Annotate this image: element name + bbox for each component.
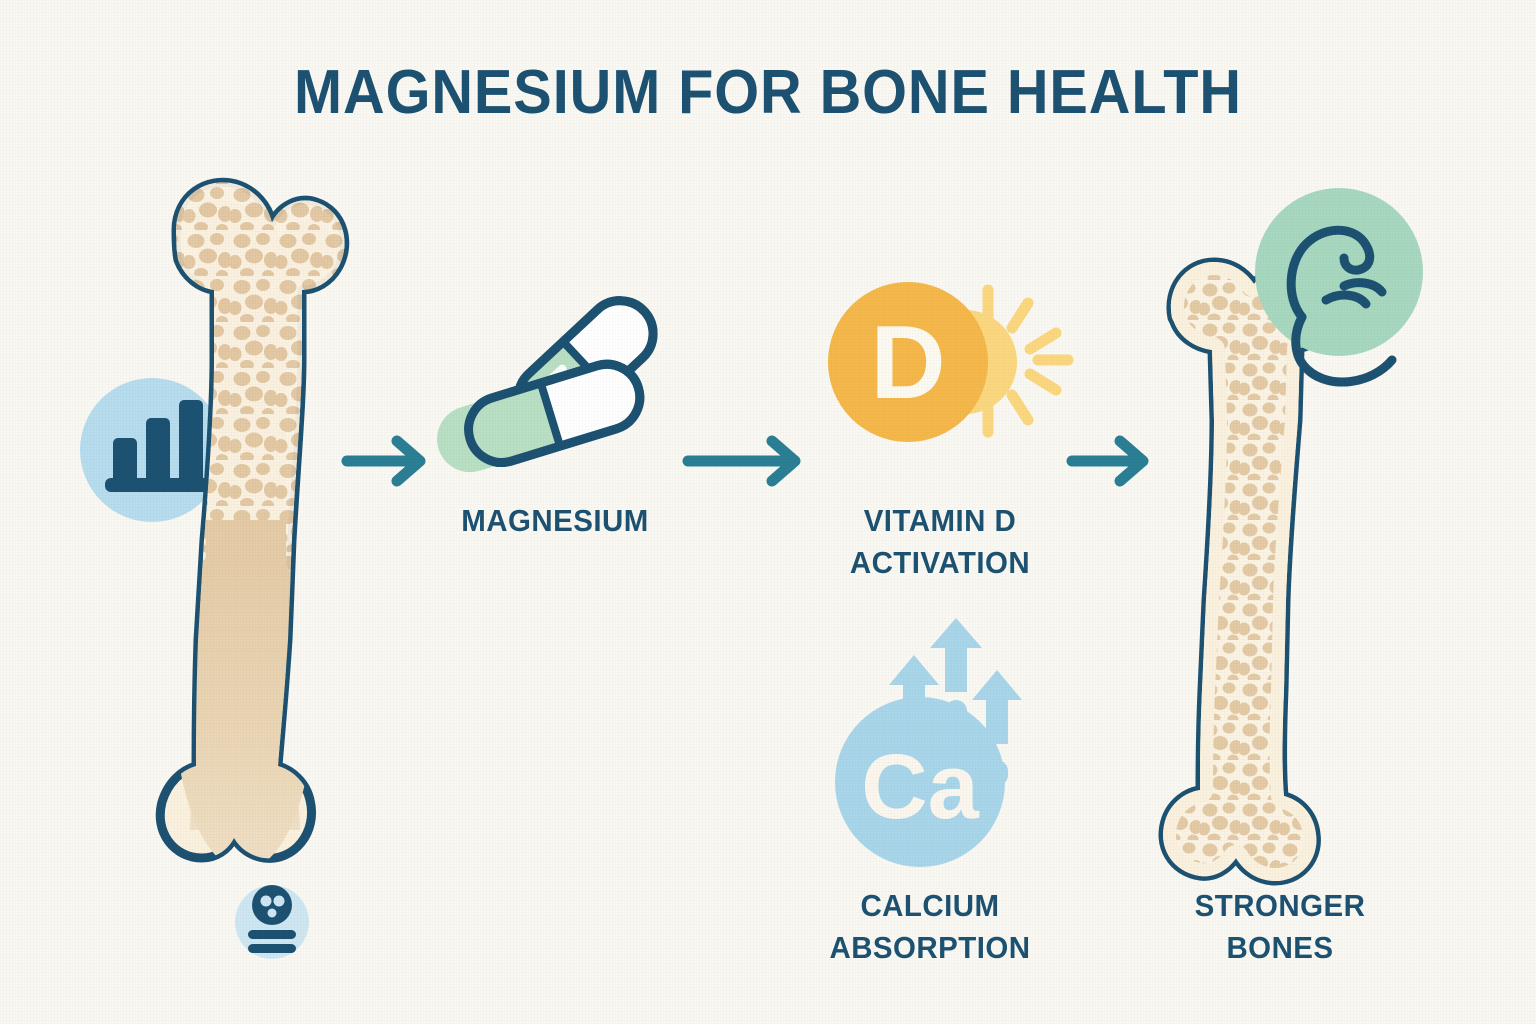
infographic-canvas: MAGNESIUM FOR BONE HEALTH (0, 0, 1536, 1024)
arrow-bone-to-magnesium (347, 441, 420, 481)
vitamin-d-sun-icon: D (828, 282, 1068, 442)
bone-density-badge-icon (235, 885, 309, 959)
vitamin-d-letter: D (870, 305, 945, 421)
calcium-molecule-icon: Ca (835, 618, 1022, 867)
arrow-magnesium-to-vitamin-d (688, 441, 795, 481)
low-density-bone-graphic (80, 176, 360, 959)
bone-left-shape (160, 176, 360, 870)
stage-label-stronger-bones: STRONGER BONES (1128, 885, 1432, 969)
stage-label-vitamin-d-activation: VITAMIN D ACTIVATION (802, 500, 1078, 584)
infographic-artwork: D Ca (0, 0, 1536, 1024)
calcium-symbol: Ca (861, 736, 979, 838)
arrow-vitamin-d-to-stronger-bones (1072, 441, 1143, 481)
stage-label-calcium-absorption: CALCIUM ABSORPTION (788, 885, 1073, 969)
capsule-pills-icon (429, 287, 667, 480)
bar-chart-icon (80, 378, 224, 522)
stage-label-magnesium: MAGNESIUM (413, 500, 698, 542)
stronger-bone-graphic (1150, 188, 1423, 890)
